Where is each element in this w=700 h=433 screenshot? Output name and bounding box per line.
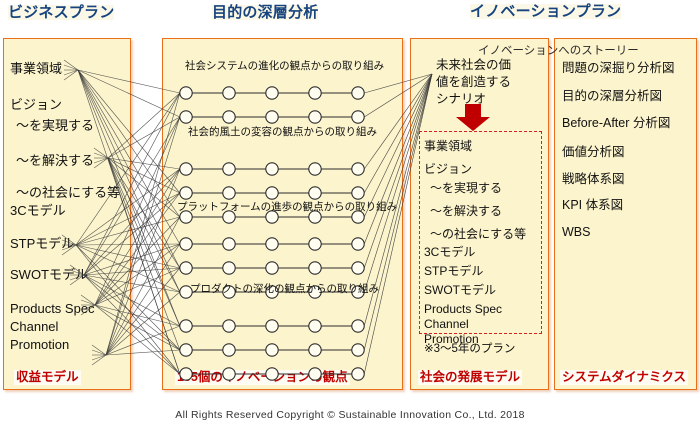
deep-analysis-group-heading: 社会的風土の変容の観点からの取り組み	[188, 124, 377, 139]
system-dynamics-item: Before-After 分析図	[562, 117, 670, 130]
bottom-label-revenue-model: 収益モデル	[14, 370, 81, 385]
column-title-deep-analysis: 目的の深層分析	[212, 5, 318, 20]
innovation-node	[180, 163, 192, 175]
innovation-node	[309, 344, 321, 356]
innovation-node	[266, 368, 278, 380]
innovation-dashed-item: ～の社会にする等	[430, 228, 526, 240]
business-plan-item: ビジョン	[10, 98, 62, 111]
innovation-node	[223, 368, 235, 380]
bottom-label-social-development-model: 社会の発展モデル	[418, 370, 522, 385]
innovation-dashed-item: 3Cモデル	[424, 246, 475, 258]
business-plan-item: Products Spec	[10, 302, 95, 315]
innovation-node	[352, 320, 364, 332]
deep-analysis-node-matrix	[162, 38, 403, 390]
innovation-node	[266, 262, 278, 274]
innovation-node	[352, 368, 364, 380]
innovation-node	[180, 320, 192, 332]
innovation-dashed-item: STPモデル	[424, 265, 483, 277]
system-dynamics-item: WBS	[562, 226, 590, 239]
innovation-node	[223, 111, 235, 123]
story-label: イノベーションへのストーリー	[478, 42, 639, 58]
down-arrow-icon	[455, 104, 491, 132]
innovation-dashed-item: ～を実現する	[430, 182, 502, 194]
innovation-node	[180, 111, 192, 123]
business-plan-item: SWOTモデル	[10, 268, 88, 281]
diagram-canvas: ビジネスプラン 目的の深層分析 イノベーションプラン 事業領域ビジョン～を実現す…	[0, 0, 700, 433]
innovation-node	[223, 163, 235, 175]
copyright-footer: All Rights Reserved Copyright © Sustaina…	[0, 409, 700, 421]
system-dynamics-item: KPI 体系図	[562, 199, 623, 212]
innovation-node	[266, 187, 278, 199]
innovation-node	[309, 87, 321, 99]
innovation-dashed-item: ビジョン	[424, 163, 472, 175]
business-plan-item: Channel	[10, 320, 58, 333]
innovation-node	[223, 187, 235, 199]
innovation-dashed-item: Products Spec	[424, 303, 502, 315]
innovation-node	[223, 344, 235, 356]
innovation-node	[223, 320, 235, 332]
innovation-dashed-item: SWOTモデル	[424, 284, 496, 296]
innovation-dashed-item: 事業領域	[424, 140, 472, 152]
business-plan-item: STPモデル	[10, 237, 74, 250]
system-dynamics-item: 価値分析図	[562, 146, 625, 159]
innovation-dashed-item: Channel	[424, 318, 469, 330]
innovation-node	[266, 320, 278, 332]
business-plan-item: ～を解決する	[16, 154, 94, 167]
innovation-node	[352, 187, 364, 199]
innovation-node	[266, 238, 278, 250]
innovation-node	[266, 87, 278, 99]
system-dynamics-item: 戦略体系図	[562, 173, 625, 186]
innovation-node	[309, 262, 321, 274]
innovation-node	[309, 163, 321, 175]
business-plan-item: 3Cモデル	[10, 204, 66, 217]
innovation-node	[266, 163, 278, 175]
business-plan-item: ～を実現する	[16, 119, 94, 132]
deep-analysis-group-heading: プロダクトの深化の観点からの取り組み	[190, 281, 379, 296]
column-title-innovation-plan: イノベーションプラン	[470, 4, 621, 19]
business-plan-item: ～の社会にする等	[16, 186, 120, 199]
innovation-node	[266, 344, 278, 356]
scenario-line: 値を創造する	[436, 75, 511, 90]
deep-analysis-group-heading: 社会システムの進化の観点からの取り組み	[185, 58, 384, 73]
innovation-node	[180, 238, 192, 250]
business-plan-item: Promotion	[10, 338, 69, 351]
innovation-node	[309, 320, 321, 332]
innovation-node	[266, 111, 278, 123]
innovation-node	[180, 187, 192, 199]
innovation-node	[352, 163, 364, 175]
innovation-dashed-item: ～を解決する	[430, 205, 502, 217]
innovation-node	[352, 344, 364, 356]
deep-analysis-group-heading: プラットフォームの進歩の観点からの取り組み	[177, 199, 397, 214]
column-title-business-plan: ビジネスプラン	[8, 5, 114, 20]
innovation-node	[180, 344, 192, 356]
innovation-node	[352, 238, 364, 250]
innovation-node	[223, 238, 235, 250]
innovation-node	[352, 111, 364, 123]
innovation-node	[352, 87, 364, 99]
innovation-node	[223, 87, 235, 99]
innovation-node	[309, 238, 321, 250]
innovation-node	[180, 262, 192, 274]
innovation-node	[309, 187, 321, 199]
scenario-line: 未来社会の価	[436, 58, 511, 73]
innovation-node	[309, 111, 321, 123]
plan-duration-note: ※3～5年のプラン	[424, 340, 515, 356]
innovation-node	[180, 87, 192, 99]
system-dynamics-item: 問題の深掘り分析図	[562, 62, 675, 75]
innovation-node	[352, 262, 364, 274]
innovation-node	[180, 368, 192, 380]
business-plan-item: 事業領域	[10, 62, 62, 75]
innovation-node	[309, 368, 321, 380]
innovation-node	[223, 262, 235, 274]
system-dynamics-item: 目的の深層分析図	[562, 90, 662, 103]
bottom-label-system-dynamics: システムダイナミクス	[560, 370, 688, 385]
